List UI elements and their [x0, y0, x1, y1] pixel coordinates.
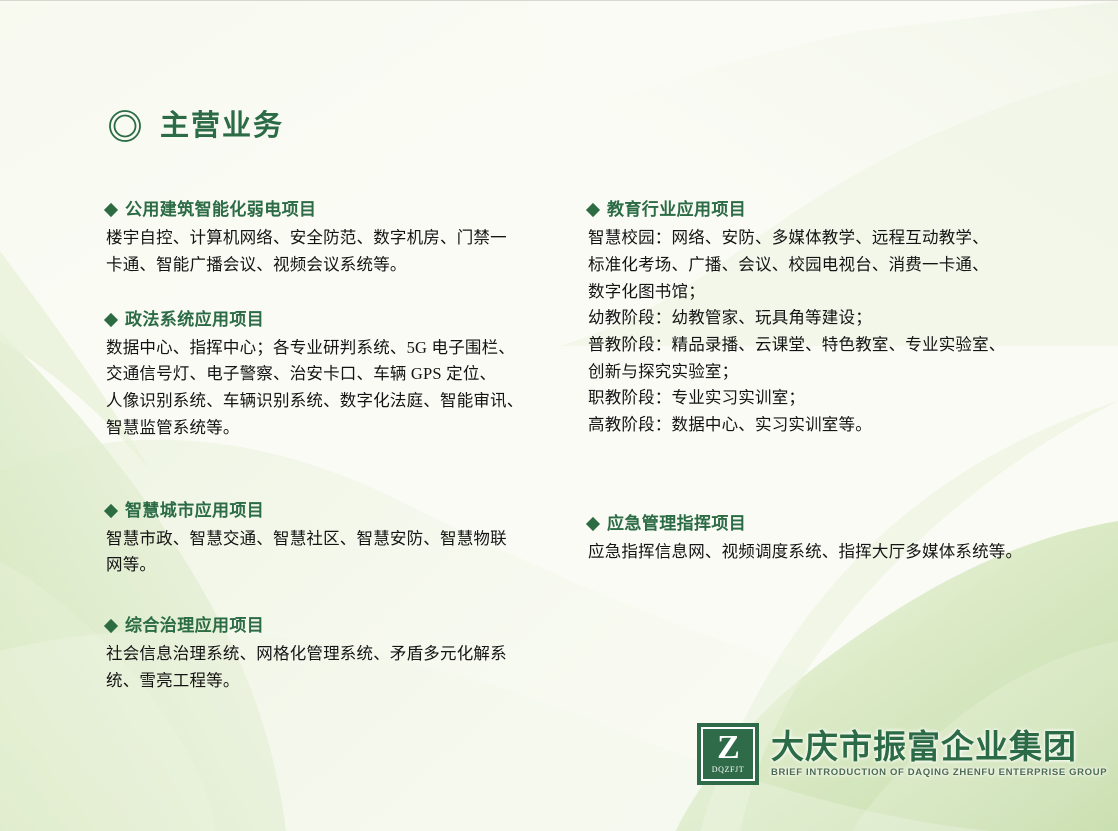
spacer — [588, 439, 1048, 513]
body-line: 交通信号灯、电子警察、治安卡口、车辆 GPS 定位、 — [106, 361, 554, 388]
body-line: 人像识别系统、车辆识别系统、数字化法庭、智能审讯、 — [106, 388, 554, 415]
diamond-bullet-icon — [104, 203, 118, 217]
body-line: 社会信息治理系统、网格化管理系统、矛盾多元化解系 — [106, 641, 554, 668]
body-line: 卡通、智能广播会议、视频会议系统等。 — [106, 252, 554, 279]
company-name: 大庆市振富企业集团 — [771, 730, 1107, 765]
logo-text-block: 大庆市振富企业集团 BRIEF INTRODUCTION OF DAQING Z… — [771, 730, 1107, 778]
section-heading: 政法系统应用项目 — [106, 309, 554, 331]
body-line: 智慧监管系统等。 — [106, 415, 554, 442]
body-line: 网等。 — [106, 552, 554, 579]
body-line: 职教阶段：专业实习实训室； — [588, 385, 1048, 412]
spacer — [106, 279, 554, 309]
left-column: 公用建筑智能化弱电项目 楼宇自控、计算机网络、安全防范、数字机房、门禁一 卡通、… — [106, 199, 554, 695]
right-column: 教育行业应用项目 智慧校园：网络、安防、多媒体教学、远程互动教学、 标准化考场、… — [588, 199, 1048, 566]
body-line: 普教阶段：精品录播、云课堂、特色教室、专业实验室、 — [588, 332, 1048, 359]
section-body: 楼宇自控、计算机网络、安全防范、数字机房、门禁一 卡通、智能广播会议、视频会议系… — [106, 225, 554, 278]
body-line: 智慧校园：网络、安防、多媒体教学、远程互动教学、 — [588, 225, 1048, 252]
diamond-bullet-icon — [104, 619, 118, 633]
body-line: 智慧市政、智慧交通、智慧社区、智慧安防、智慧物联 — [106, 526, 554, 553]
diamond-bullet-icon — [104, 503, 118, 517]
diamond-bullet-icon — [586, 517, 600, 531]
section-heading-text: 应急管理指挥项目 — [607, 513, 746, 535]
section-smart-city: 智慧城市应用项目 智慧市政、智慧交通、智慧社区、智慧安防、智慧物联 网等。 — [106, 500, 554, 580]
section-heading: 智慧城市应用项目 — [106, 500, 554, 522]
section-comprehensive-governance: 综合治理应用项目 社会信息治理系统、网格化管理系统、矛盾多元化解系 统、雪亮工程… — [106, 615, 554, 695]
body-line: 标准化考场、广播、会议、校园电视台、消费一卡通、 — [588, 252, 1048, 279]
page-title: 主营业务 — [108, 109, 284, 143]
section-body: 社会信息治理系统、网格化管理系统、矛盾多元化解系 统、雪亮工程等。 — [106, 641, 554, 694]
spacer — [106, 442, 554, 500]
page-title-text: 主营业务 — [160, 112, 284, 141]
section-education: 教育行业应用项目 智慧校园：网络、安防、多媒体教学、远程互动教学、 标准化考场、… — [588, 199, 1048, 439]
body-line: 数据中心、指挥中心；各专业研判系统、5G 电子围栏、 — [106, 335, 554, 362]
section-body: 智慧市政、智慧交通、智慧社区、智慧安防、智慧物联 网等。 — [106, 526, 554, 579]
logo-mark-inner: Z DQZFJT — [701, 727, 755, 781]
company-tagline: BRIEF INTRODUCTION OF DAQING ZHENFU ENTE… — [771, 767, 1107, 778]
body-line: 楼宇自控、计算机网络、安全防范、数字机房、门禁一 — [106, 225, 554, 252]
section-heading-text: 政法系统应用项目 — [125, 309, 264, 331]
body-line: 数字化图书馆； — [588, 279, 1048, 306]
logo-mark-icon: Z DQZFJT — [697, 723, 759, 785]
section-heading-text: 智慧城市应用项目 — [125, 500, 264, 522]
brochure-page: 主营业务 公用建筑智能化弱电项目 楼宇自控、计算机网络、安全防范、数字机房、门禁… — [0, 0, 1118, 831]
spacer — [106, 579, 554, 615]
body-line: 创新与探究实验室； — [588, 359, 1048, 386]
section-emergency-management: 应急管理指挥项目 应急指挥信息网、视频调度系统、指挥大厅多媒体系统等。 — [588, 513, 1048, 566]
section-body: 应急指挥信息网、视频调度系统、指挥大厅多媒体系统等。 — [588, 539, 1048, 566]
body-line: 应急指挥信息网、视频调度系统、指挥大厅多媒体系统等。 — [588, 539, 1048, 566]
logo-abbreviation: DQZFJT — [712, 765, 745, 774]
logo-letter: Z — [717, 732, 739, 764]
double-circle-icon — [108, 109, 142, 143]
body-line: 幼教阶段：幼教管家、玩具角等建设； — [588, 305, 1048, 332]
section-body: 数据中心、指挥中心；各专业研判系统、5G 电子围栏、 交通信号灯、电子警察、治安… — [106, 335, 554, 442]
section-heading-text: 教育行业应用项目 — [607, 199, 746, 221]
section-heading: 综合治理应用项目 — [106, 615, 554, 637]
section-heading: 公用建筑智能化弱电项目 — [106, 199, 554, 221]
section-body: 智慧校园：网络、安防、多媒体教学、远程互动教学、 标准化考场、广播、会议、校园电… — [588, 225, 1048, 439]
body-line: 统、雪亮工程等。 — [106, 668, 554, 695]
section-heading-text: 公用建筑智能化弱电项目 — [125, 199, 316, 221]
section-heading-text: 综合治理应用项目 — [125, 615, 264, 637]
diamond-bullet-icon — [104, 312, 118, 326]
company-logo: Z DQZFJT 大庆市振富企业集团 BRIEF INTRODUCTION OF… — [697, 723, 1107, 785]
diamond-bullet-icon — [586, 203, 600, 217]
section-political-legal: 政法系统应用项目 数据中心、指挥中心；各专业研判系统、5G 电子围栏、 交通信号… — [106, 309, 554, 442]
section-heading: 应急管理指挥项目 — [588, 513, 1048, 535]
section-public-building: 公用建筑智能化弱电项目 楼宇自控、计算机网络、安全防范、数字机房、门禁一 卡通、… — [106, 199, 554, 279]
section-heading: 教育行业应用项目 — [588, 199, 1048, 221]
body-line: 高教阶段：数据中心、实习实训室等。 — [588, 412, 1048, 439]
